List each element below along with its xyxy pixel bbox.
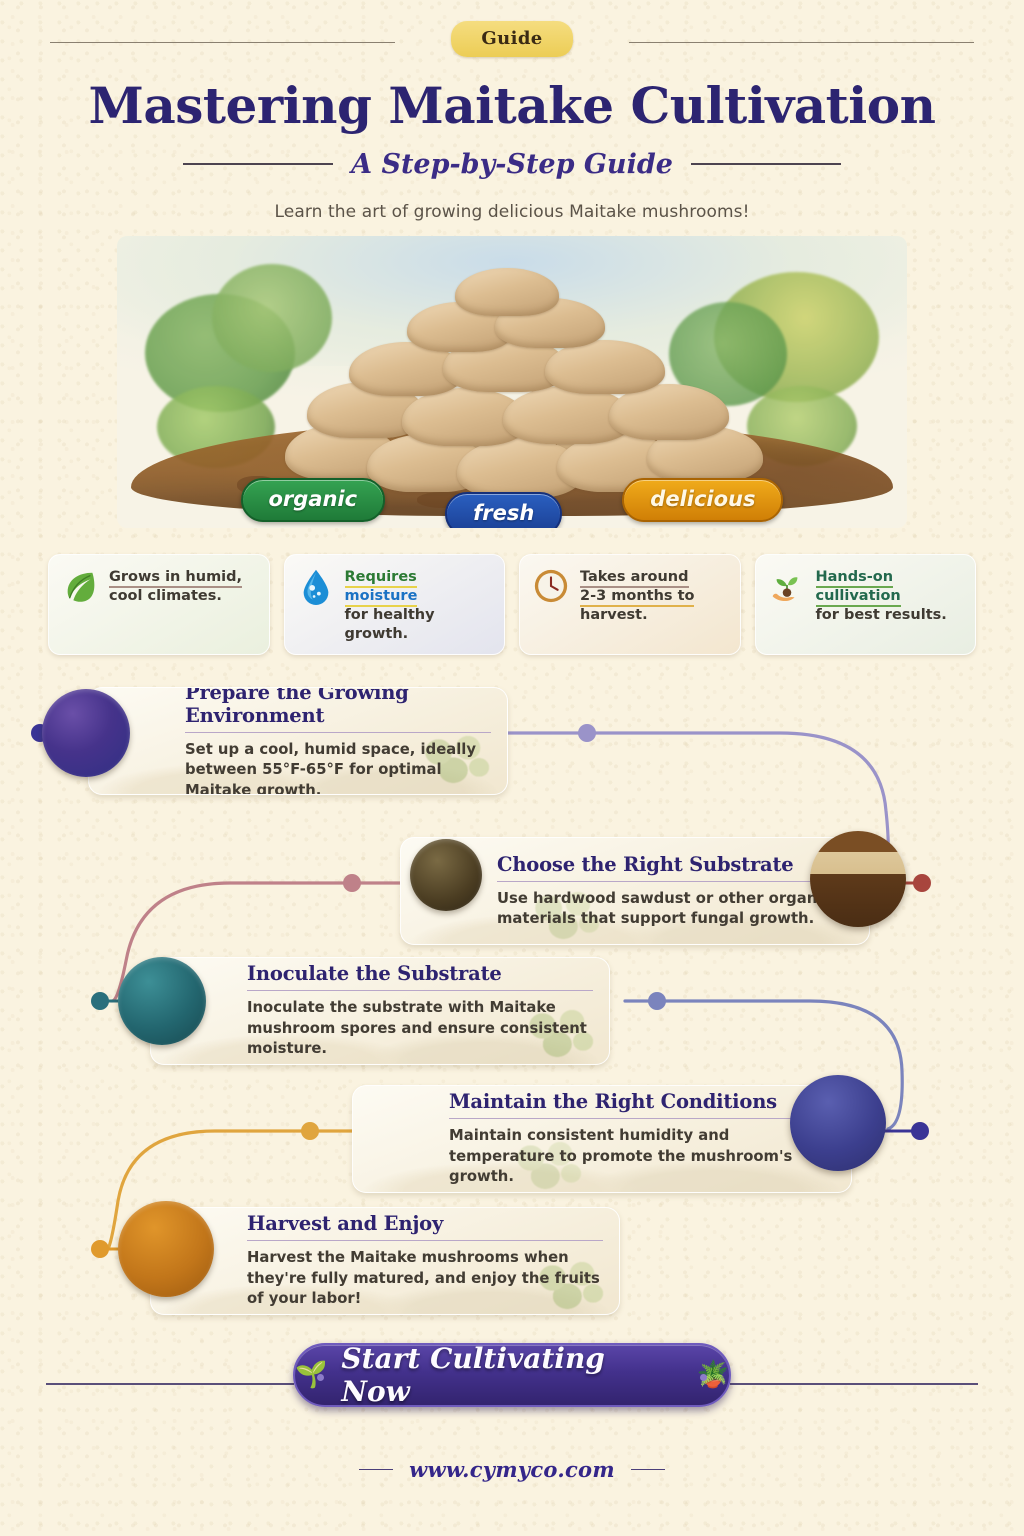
step-desc-4: Maintain consistent humidity and tempera… <box>449 1126 835 1187</box>
hero-image: organic fresh delicious <box>117 236 907 528</box>
feature-highlight-b: 2-3 months to <box>580 588 694 607</box>
footer-url[interactable]: www.cymyco.com <box>409 1457 615 1482</box>
feature-highlight-b: cullivation <box>816 588 901 607</box>
step-card-3[interactable]: Inoculate the Substrate Inoculate the su… <box>150 957 610 1065</box>
feature-highlight: Hands-on <box>816 569 894 588</box>
flow-node-mid-2 <box>343 874 361 892</box>
thermometer-icon <box>362 1085 434 1157</box>
steps-flow: Prepare the Growing Environment Set up a… <box>0 671 1024 1331</box>
subtitle-rule-right <box>691 163 841 165</box>
cta-dot-left <box>317 1374 324 1381</box>
flask-icon <box>118 957 206 1045</box>
step-desc-1: Set up a cool, humid space, ideally betw… <box>185 740 491 795</box>
foliage-left-2 <box>212 264 332 372</box>
step-desc-5: Harvest the Maitake mushrooms when they'… <box>247 1248 603 1309</box>
water-drop-icon <box>297 567 335 605</box>
page-title: Mastering Maitake Cultivation <box>0 80 1024 133</box>
footer-rule-left <box>359 1469 393 1471</box>
step-title-5: Harvest and Enjoy <box>247 1212 603 1241</box>
cta-section: 🌱 Start Cultivating Now 🪴 <box>0 1335 1024 1455</box>
substrate-thumbnail <box>810 831 906 927</box>
step-title-2: Choose the Right Substrate <box>497 853 853 882</box>
feature-card-moisture: Requires moisture for healthy growth. <box>284 554 506 656</box>
badge-organic[interactable]: organic <box>241 478 386 522</box>
step-card-5[interactable]: Harvest and Enjoy Harvest the Maitake mu… <box>150 1207 620 1315</box>
step-title-1: Prepare the Growing Environment <box>185 687 491 733</box>
feature-rest: harvest. <box>580 607 648 623</box>
feature-text-moisture: Requires moisture for healthy growth. <box>345 567 493 645</box>
top-band: Guide <box>0 0 1024 64</box>
subtitle-row: A Step-by-Step Guide <box>0 149 1024 180</box>
feature-card-duration: Takes around 2-3 months to harvest. <box>519 554 741 656</box>
feature-highlight-a: Requires <box>345 569 417 588</box>
feature-highlight: Grows in humid, <box>109 569 242 588</box>
feature-text-handson: Hands-on cullivation for best results. <box>816 567 947 625</box>
flow-node-mid-4 <box>301 1122 319 1140</box>
step-desc-2: Use hardwood sawdust or other organic ma… <box>497 889 853 930</box>
start-cultivating-button[interactable]: 🌱 Start Cultivating Now 🪴 <box>293 1343 731 1407</box>
leaf-icon <box>61 567 99 605</box>
flow-node-mid-3 <box>648 992 666 1010</box>
step-desc-3: Inoculate the substrate with Maitake mus… <box>247 998 593 1059</box>
humidity-thumbnail <box>790 1075 886 1171</box>
top-rule-right <box>629 42 974 43</box>
subtitle-rule-left <box>183 163 333 165</box>
step-title-4: Maintain the Right Conditions <box>449 1090 835 1119</box>
hand-seedling-icon <box>768 567 806 605</box>
feature-card-handson: Hands-on cullivation for best results. <box>755 554 977 656</box>
page-subtitle: A Step-by-Step Guide <box>351 149 673 180</box>
feature-rest: for healthy growth. <box>345 607 435 642</box>
step-card-1[interactable]: Prepare the Growing Environment Set up a… <box>88 687 508 795</box>
footer: www.cymyco.com <box>0 1457 1024 1482</box>
cta-rule-right <box>730 1383 978 1385</box>
cta-rule-left <box>46 1383 294 1385</box>
tagline: Learn the art of growing delicious Maita… <box>0 202 1024 222</box>
hero-pill-row: organic fresh delicious <box>117 478 907 522</box>
top-rule-left <box>50 42 395 43</box>
feature-rest: for best results. <box>816 607 947 623</box>
cta-label: Start Cultivating Now <box>341 1342 682 1408</box>
substrate-leaf-icon <box>410 839 482 911</box>
house-icon <box>42 689 130 777</box>
badge-fresh[interactable]: fresh <box>445 492 562 528</box>
infographic-page: Guide Mastering Maitake Cultivation A St… <box>0 0 1024 1536</box>
scissors-icon <box>118 1201 214 1297</box>
feature-card-row: Grows in humid, cool climates. Requires … <box>0 536 1024 656</box>
step-title-3: Inoculate the Substrate <box>247 962 593 991</box>
feature-card-humid: Grows in humid, cool climates. <box>48 554 270 656</box>
cta-dot-right <box>700 1374 707 1381</box>
feature-rest: cool climates. <box>109 588 222 604</box>
flow-node-mid-1 <box>578 724 596 742</box>
clock-icon <box>532 567 570 605</box>
feature-text-humid: Grows in humid, cool climates. <box>109 567 242 606</box>
feature-highlight-b: moisture <box>345 588 418 607</box>
guide-badge: Guide <box>451 21 572 57</box>
feature-highlight: Takes around <box>580 569 689 588</box>
badge-delicious[interactable]: delicious <box>622 478 783 522</box>
feature-text-duration: Takes around 2-3 months to harvest. <box>580 567 694 625</box>
footer-rule-right <box>631 1469 665 1471</box>
